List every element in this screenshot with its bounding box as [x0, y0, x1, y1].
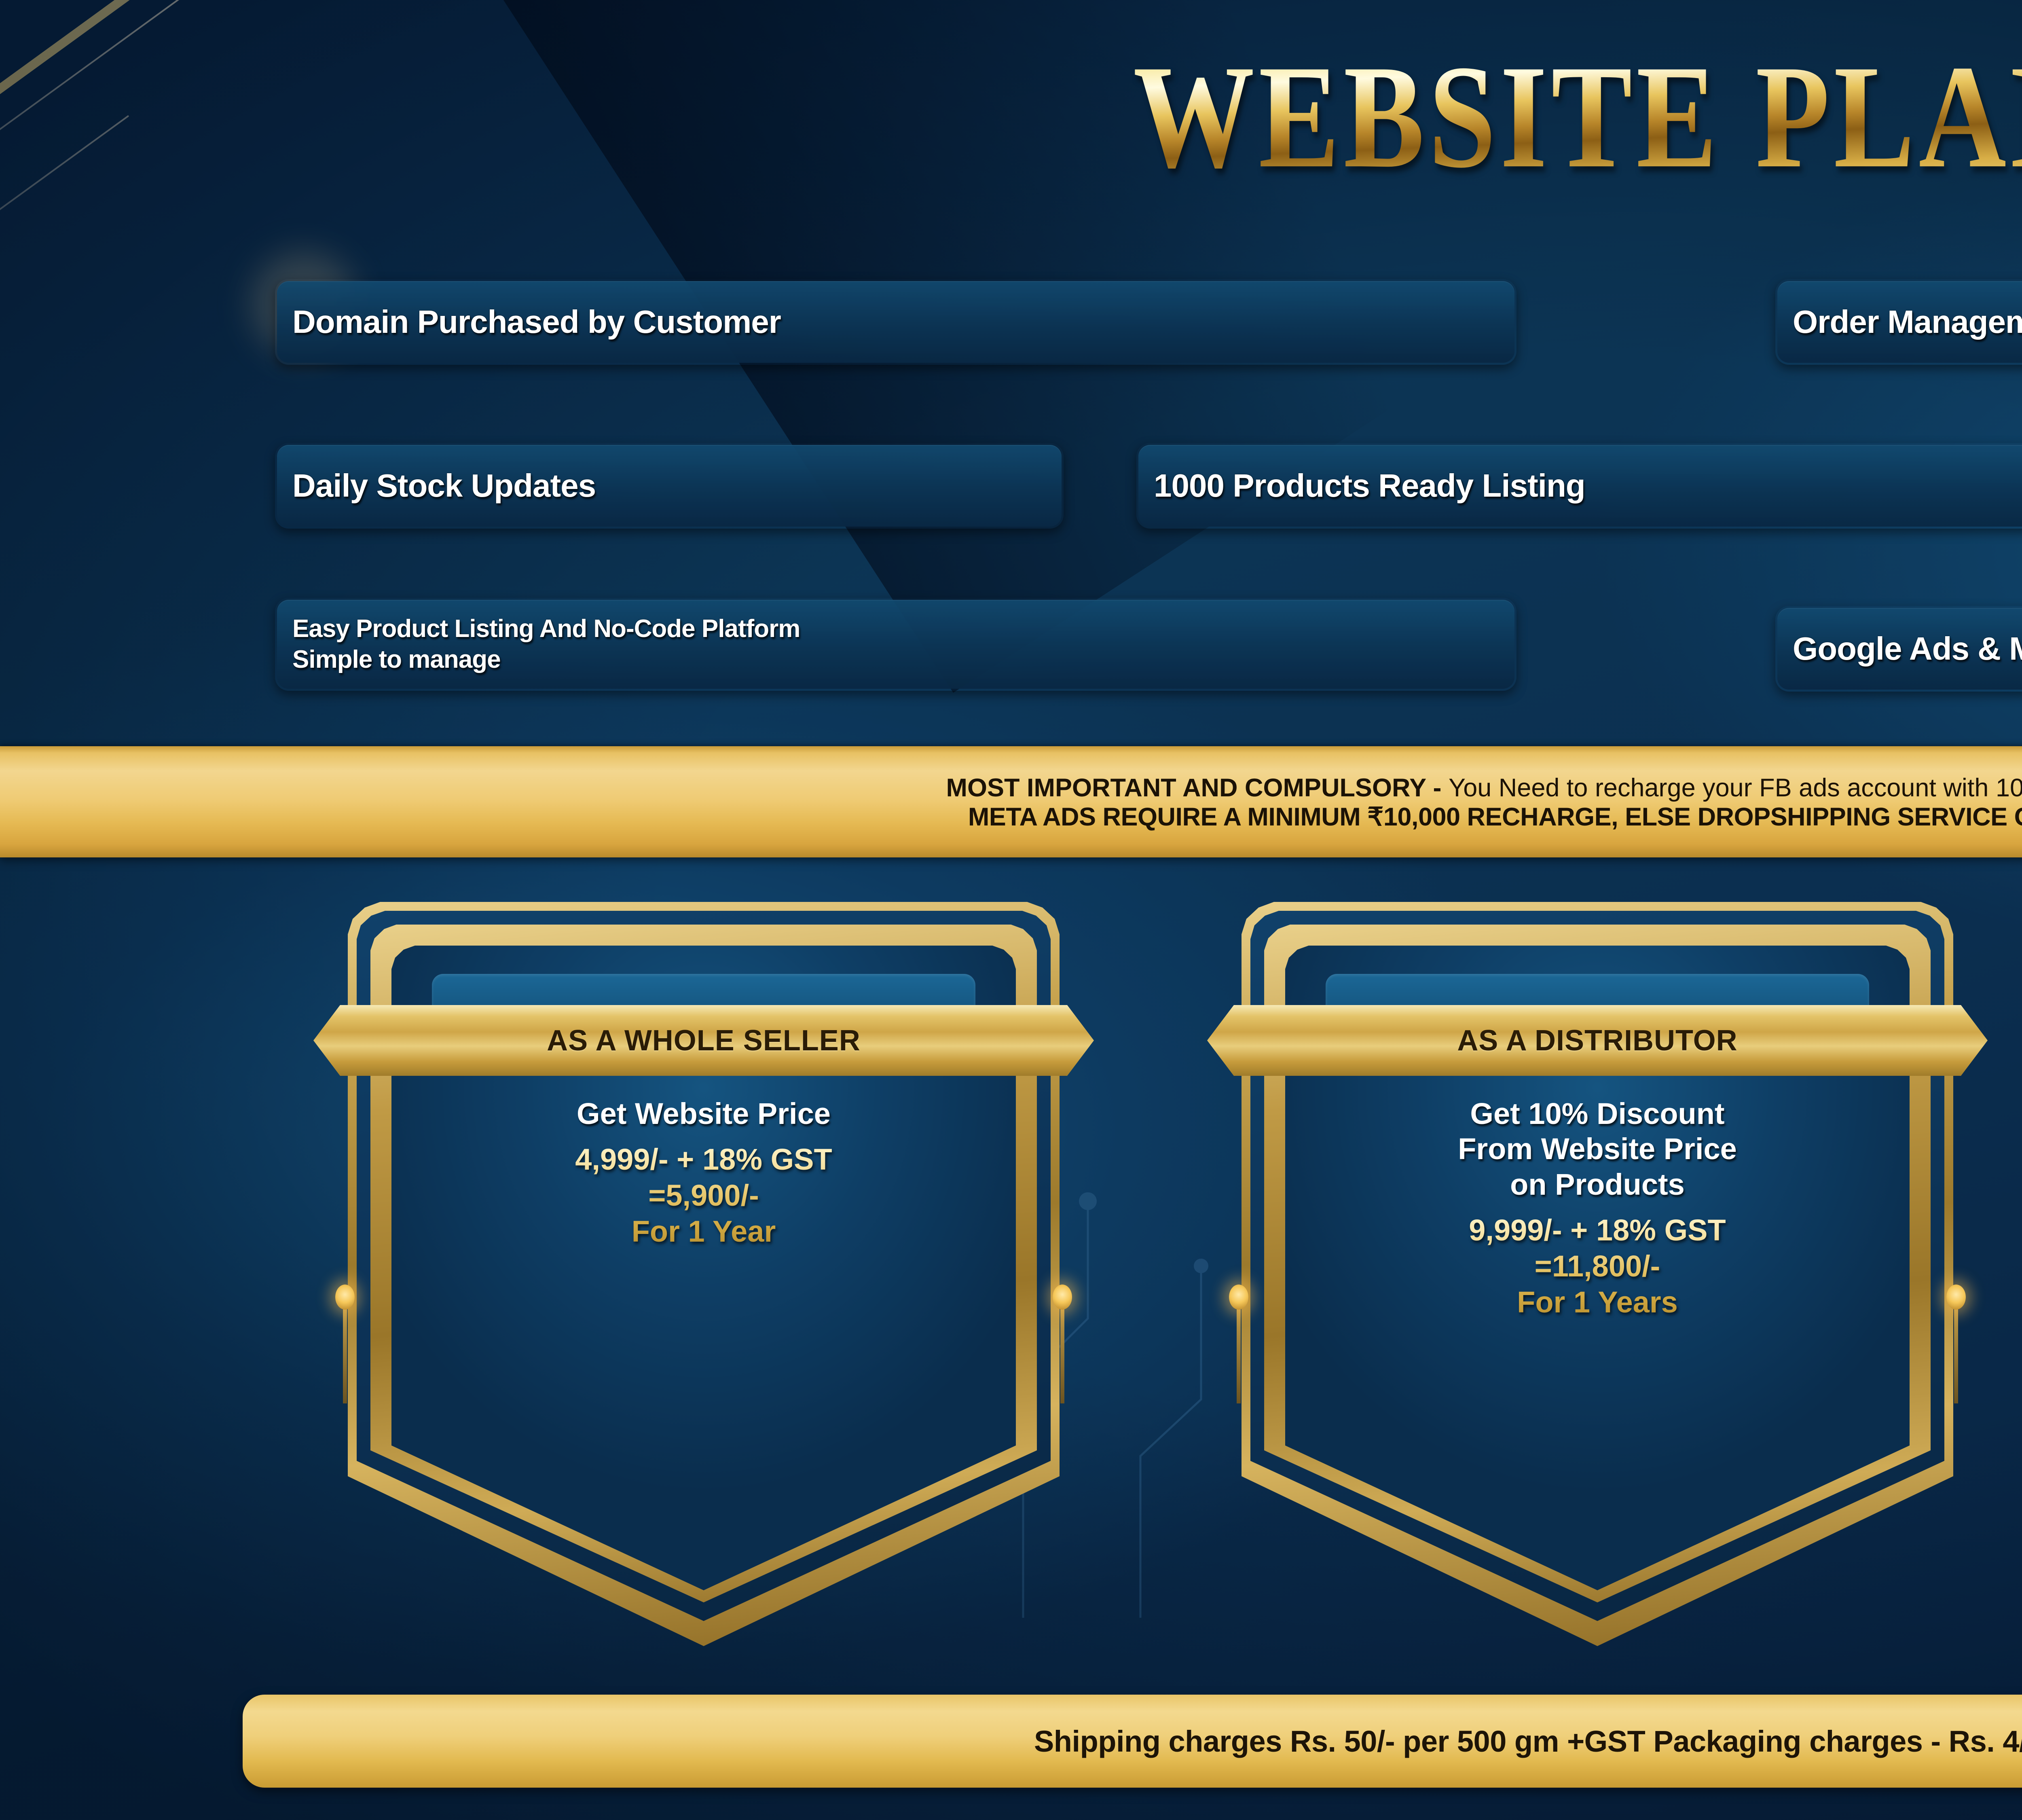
- shipping-charges-banner: Shipping charges Rs. 50/- per 500 gm +GS…: [243, 1695, 2022, 1788]
- notice-line-1: MOST IMPORTANT AND COMPULSORY - You Need…: [946, 774, 2022, 803]
- feature-label: Easy Product Listing And No-Code Platfor…: [292, 614, 800, 675]
- feature-box-google-ads-meta-pixel[interactable]: Google Ads & Meta Pixel Integration: [1775, 606, 2022, 692]
- plan-content: Get 10% Discount From Website Price on P…: [1286, 1096, 1909, 1320]
- plan-ribbon: AS A DISTRIBUTOR: [1207, 1005, 1988, 1076]
- light-pin-left: [343, 1298, 347, 1403]
- plan-card-whole-seller[interactable]: AS A WHOLE SELLER Get Website Price 4,99…: [348, 902, 1060, 1646]
- notice-line-2: META ADS REQUIRE A MINIMUM ₹10,000 RECHA…: [968, 803, 2022, 832]
- feature-box-daily-stock-updates[interactable]: Daily Stock Updates: [275, 443, 1064, 529]
- notice-line-1-regular: You Need to recharge your FB ads account…: [1449, 774, 2022, 802]
- plan-price: 9,999/- + 18% GST =11,800/- For 1 Years: [1286, 1213, 1909, 1320]
- plan-price: 4,999/- + 18% GST =5,900/- For 1 Year: [392, 1142, 1015, 1249]
- feature-box-products-ready-listing[interactable]: 1000 Products Ready Listing: [1136, 443, 2022, 529]
- plan-content: Get Website Price 4,999/- + 18% GST =5,9…: [392, 1096, 1015, 1250]
- notice-line-1-bold: MOST IMPORTANT AND COMPULSORY -: [946, 774, 1449, 802]
- feature-label: Daily Stock Updates: [292, 469, 596, 502]
- feature-label: Domain Purchased by Customer: [292, 305, 781, 339]
- feature-label: 1000 Products Ready Listing: [1154, 469, 1585, 502]
- feature-label: Google Ads & Meta Pixel Integration: [1793, 632, 2022, 665]
- page-title: WEBSITE PLAN: [0, 42, 2022, 190]
- feature-label: Order Management Panel: [1793, 305, 2022, 339]
- feature-box-domain-purchased[interactable]: Domain Purchased by Customer: [275, 279, 1516, 365]
- light-pin-left: [1237, 1298, 1241, 1403]
- feature-box-order-management[interactable]: Order Management Panel: [1775, 279, 2022, 365]
- plan-ribbon: AS A WHOLE SELLER: [313, 1005, 1094, 1076]
- plan-ribbon-label: AS A WHOLE SELLER: [547, 1024, 861, 1057]
- compulsory-notice-banner: MOST IMPORTANT AND COMPULSORY - You Need…: [0, 746, 2022, 857]
- plan-headline: Get Website Price: [392, 1096, 1015, 1131]
- plan-ribbon-label: AS A DISTRIBUTOR: [1457, 1024, 1737, 1057]
- shipping-charges-label: Shipping charges Rs. 50/- per 500 gm +GS…: [1034, 1724, 2022, 1759]
- plan-card-distributor[interactable]: AS A DISTRIBUTOR Get 10% Discount From W…: [1242, 902, 1953, 1646]
- plan-headline: Get 10% Discount From Website Price on P…: [1286, 1096, 1909, 1202]
- feature-box-easy-product-listing[interactable]: Easy Product Listing And No-Code Platfor…: [275, 598, 1516, 691]
- light-pin-right: [1954, 1298, 1958, 1403]
- light-pin-right: [1060, 1298, 1064, 1403]
